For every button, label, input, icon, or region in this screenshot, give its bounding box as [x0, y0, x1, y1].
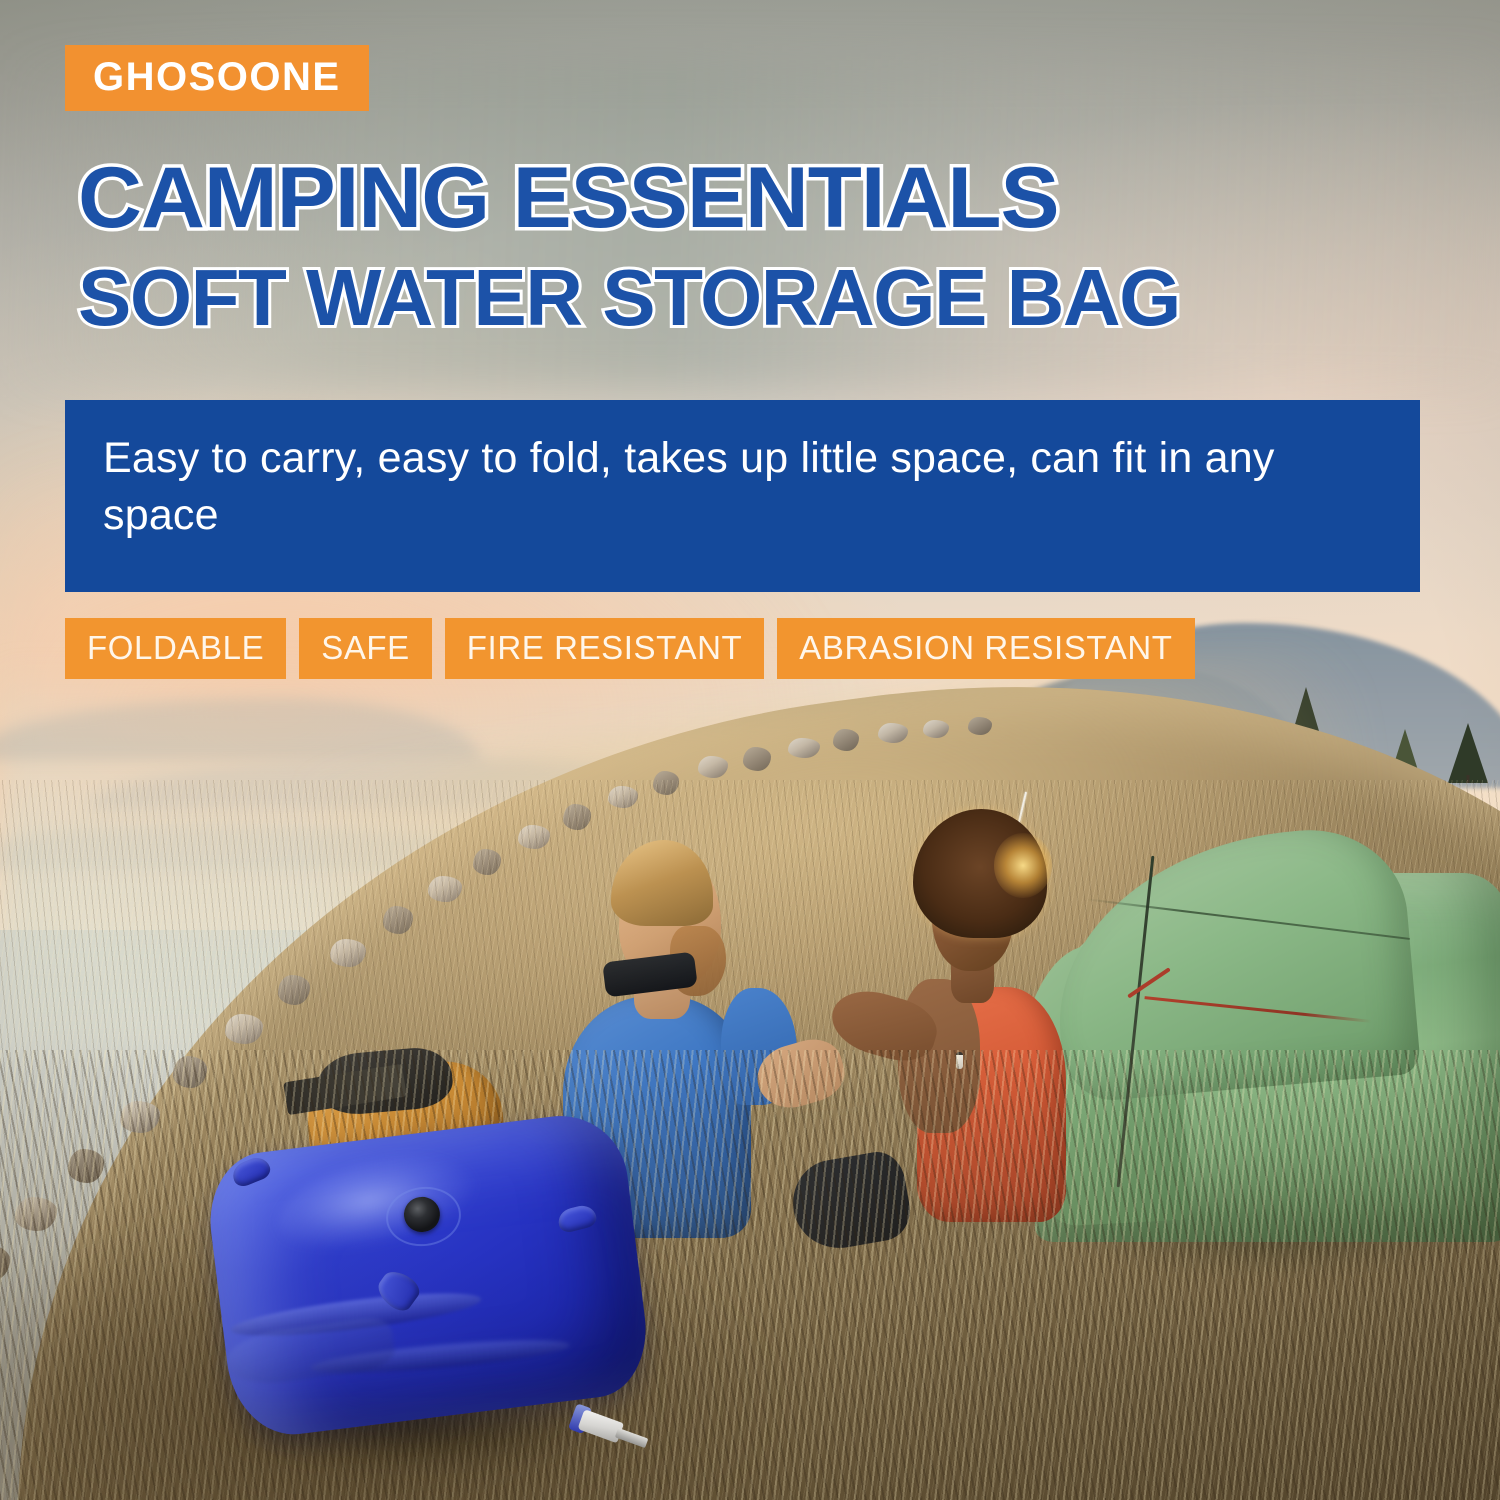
man-hair	[611, 840, 713, 926]
feature-tag-fire-resistant: FIRE RESISTANT	[445, 618, 764, 679]
feature-tag-abrasion-resistant: ABRASION RESISTANT	[777, 618, 1194, 679]
brand-name: GHOSOONE	[93, 57, 341, 97]
brand-badge: GHOSOONE	[65, 45, 369, 111]
description-text: Easy to carry, easy to fold, takes up li…	[103, 430, 1382, 544]
feature-tag-foldable: FOLDABLE	[65, 618, 286, 679]
description-panel: Easy to carry, easy to fold, takes up li…	[65, 400, 1420, 592]
spigot-nozzle	[614, 1428, 648, 1448]
sun-flare	[994, 833, 1052, 898]
feature-tag-row: FOLDABLE SAFE FIRE RESISTANT ABRASION RE…	[65, 618, 1195, 679]
headline-secondary: SOFT WATER STORAGE BAG	[78, 258, 1180, 338]
feature-tag-safe: SAFE	[299, 618, 432, 679]
headline-primary: CAMPING ESSENTIALS	[78, 155, 1059, 241]
water-storage-bag	[218, 1133, 638, 1456]
product-marketing-poster: GHOSOONE CAMPING ESSENTIALS SOFT WATER S…	[0, 0, 1500, 1500]
